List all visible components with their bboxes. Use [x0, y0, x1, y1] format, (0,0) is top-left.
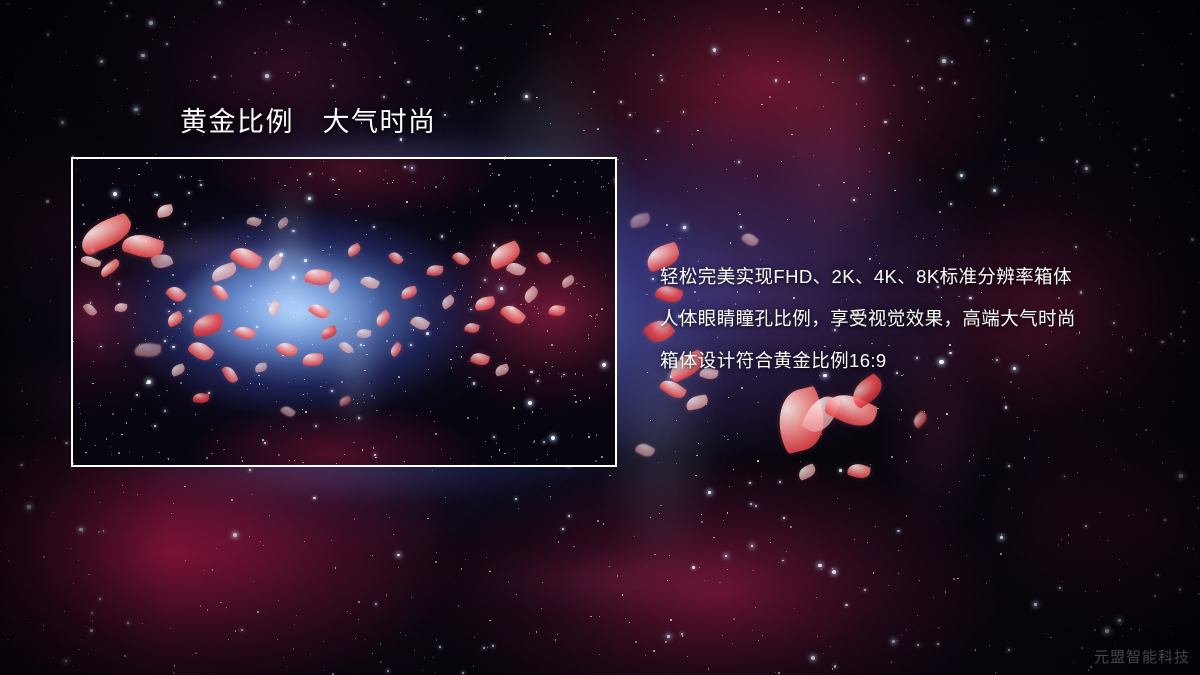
star-icon — [8, 560, 10, 562]
star-icon — [692, 134, 693, 135]
star-icon — [354, 518, 356, 520]
star-icon — [1157, 574, 1159, 576]
rose-petal-icon — [499, 301, 527, 328]
star-icon — [898, 140, 900, 142]
star-icon — [88, 653, 89, 654]
rose-petal-icon — [560, 274, 577, 289]
star-icon — [978, 116, 979, 117]
star-icon — [973, 11, 975, 13]
rose-petal-icon — [307, 300, 330, 321]
star-icon — [35, 259, 36, 260]
rose-petal-icon — [192, 313, 224, 337]
star-icon — [578, 113, 579, 114]
star-icon — [55, 437, 57, 439]
star-icon — [380, 643, 381, 644]
star-icon — [1100, 536, 1101, 537]
star-icon — [1076, 95, 1078, 97]
star-icon — [170, 27, 171, 28]
star-icon — [800, 461, 802, 463]
star-icon — [1198, 576, 1199, 577]
star-icon — [821, 569, 822, 570]
star-icon — [733, 618, 735, 620]
star-icon — [174, 16, 176, 18]
rose-petal-icon — [266, 299, 282, 316]
star-icon — [869, 171, 871, 173]
star-icon — [1183, 340, 1186, 343]
star-icon — [492, 645, 494, 647]
star-icon — [1181, 91, 1183, 93]
star-icon — [839, 469, 842, 472]
star-icon — [104, 11, 106, 13]
star-icon — [734, 161, 735, 162]
star-icon — [1075, 171, 1076, 172]
star-icon — [870, 194, 871, 195]
star-icon — [1008, 149, 1009, 150]
star-icon — [196, 80, 197, 81]
star-icon — [1191, 238, 1193, 240]
star-icon — [1090, 666, 1092, 668]
star-icon — [1130, 219, 1132, 221]
star-icon — [940, 506, 941, 507]
star-icon — [938, 427, 940, 429]
star-icon — [1094, 96, 1095, 97]
star-icon — [761, 476, 762, 477]
star-icon — [629, 114, 631, 116]
star-icon — [779, 481, 781, 483]
star-icon — [1022, 512, 1023, 513]
star-icon — [757, 175, 758, 176]
star-icon — [917, 4, 918, 5]
body-copy-line-3: 箱体设计符合黄金比例16:9 — [660, 340, 1140, 382]
star-icon — [483, 647, 485, 649]
star-icon — [899, 419, 900, 420]
star-icon — [951, 61, 953, 63]
star-icon — [967, 19, 970, 22]
star-icon — [542, 582, 544, 584]
star-icon — [666, 224, 668, 226]
star-icon — [59, 381, 60, 382]
star-icon — [407, 81, 409, 83]
star-icon — [669, 555, 671, 557]
star-icon — [910, 436, 911, 437]
star-icon — [1107, 165, 1108, 166]
star-icon — [1064, 476, 1066, 478]
star-icon — [617, 575, 618, 576]
star-icon — [231, 499, 233, 501]
star-icon — [335, 567, 337, 569]
star-icon — [977, 132, 978, 133]
star-icon — [603, 523, 605, 525]
star-icon — [212, 569, 213, 570]
star-icon — [387, 670, 389, 672]
framed-screen-preview[interactable] — [71, 157, 617, 467]
star-icon — [1141, 65, 1143, 67]
star-icon — [383, 3, 385, 5]
star-icon — [897, 530, 900, 533]
star-icon — [82, 531, 83, 532]
star-icon — [738, 212, 739, 213]
star-icon — [29, 8, 30, 9]
star-icon — [692, 566, 695, 569]
star-icon — [322, 10, 323, 11]
star-icon — [611, 30, 612, 31]
star-icon — [681, 633, 683, 635]
star-icon — [1140, 50, 1142, 52]
star-icon — [817, 636, 818, 637]
star-icon — [667, 635, 670, 638]
star-icon — [873, 572, 875, 574]
star-icon — [121, 105, 123, 107]
star-icon — [11, 86, 12, 87]
star-icon — [174, 665, 176, 667]
star-icon — [103, 153, 104, 154]
rose-petal-icon — [121, 229, 166, 262]
star-icon — [938, 627, 940, 629]
star-icon — [1159, 253, 1161, 255]
star-icon — [1170, 626, 1172, 628]
star-icon — [426, 18, 428, 20]
star-icon — [1109, 231, 1110, 232]
rose-petal-icon — [800, 390, 842, 438]
star-icon — [1145, 139, 1147, 141]
star-icon — [295, 74, 296, 75]
star-icon — [1110, 237, 1111, 238]
star-icon — [497, 86, 498, 87]
star-icon — [657, 130, 659, 132]
star-icon — [616, 179, 617, 183]
star-icon — [919, 179, 921, 181]
star-icon — [43, 625, 45, 627]
star-icon — [152, 39, 153, 40]
rose-petal-icon — [388, 249, 404, 266]
body-copy-line-1: 轻松完美实现FHD、2K、4K、8K标准分辨率箱体 — [660, 256, 1140, 298]
star-icon — [877, 245, 878, 246]
star-icon — [245, 8, 247, 10]
star-icon — [1120, 624, 1121, 625]
star-icon — [1099, 512, 1101, 514]
star-icon — [727, 512, 728, 513]
body-copy-line-2: 人体眼睛瞳孔比例，享受视觉效果，高端大气时尚 — [660, 298, 1140, 340]
star-icon — [1103, 420, 1104, 421]
star-icon — [1146, 509, 1147, 510]
star-icon — [462, 672, 464, 674]
star-icon — [549, 33, 551, 35]
star-icon — [1134, 172, 1136, 174]
star-icon — [1068, 36, 1070, 38]
star-icon — [1058, 545, 1059, 546]
star-icon — [821, 434, 822, 435]
star-icon — [393, 534, 395, 536]
star-icon — [1120, 619, 1121, 620]
star-icon — [761, 104, 762, 105]
star-icon — [64, 611, 65, 612]
star-icon — [950, 203, 952, 205]
star-icon — [979, 475, 981, 477]
star-icon — [1122, 635, 1123, 636]
star-icon — [195, 652, 197, 654]
star-icon — [893, 85, 895, 87]
star-icon — [796, 107, 798, 109]
star-icon — [757, 460, 759, 462]
star-icon — [1136, 434, 1137, 435]
star-icon — [1073, 8, 1075, 10]
star-icon — [832, 668, 833, 669]
star-icon — [782, 560, 784, 562]
star-icon — [275, 33, 276, 34]
star-icon — [1134, 148, 1136, 150]
star-icon — [1133, 514, 1135, 516]
rose-petal-icon — [192, 392, 209, 405]
star-icon — [562, 528, 564, 530]
star-icon — [696, 455, 698, 457]
star-icon — [103, 530, 105, 532]
star-icon — [937, 418, 938, 419]
star-icon — [907, 40, 909, 42]
star-icon — [21, 390, 23, 392]
star-icon — [549, 486, 550, 487]
star-icon — [1130, 628, 1132, 630]
star-icon — [873, 149, 875, 151]
star-icon — [1061, 581, 1062, 582]
star-icon — [355, 638, 356, 639]
star-icon — [830, 128, 831, 129]
star-icon — [253, 581, 254, 582]
rose-petal-icon — [685, 394, 709, 411]
star-icon — [184, 486, 186, 488]
star-icon — [124, 655, 126, 657]
star-icon — [983, 519, 984, 520]
star-icon — [718, 84, 720, 86]
star-icon — [458, 16, 459, 17]
star-icon — [1101, 616, 1102, 617]
star-icon — [343, 43, 346, 46]
star-icon — [925, 119, 926, 120]
star-icon — [92, 620, 93, 621]
star-icon — [78, 560, 79, 561]
star-icon — [853, 199, 855, 201]
star-icon — [476, 67, 478, 69]
star-icon — [632, 13, 633, 14]
star-icon — [1195, 555, 1196, 556]
star-icon — [654, 554, 656, 556]
star-icon — [1085, 167, 1088, 170]
star-icon — [660, 505, 662, 507]
star-icon — [226, 607, 227, 608]
star-icon — [891, 661, 893, 663]
star-icon — [185, 560, 186, 561]
star-icon — [1155, 302, 1156, 303]
star-icon — [597, 520, 599, 522]
star-icon — [1159, 216, 1161, 218]
star-icon — [127, 622, 129, 624]
star-icon — [1092, 101, 1093, 102]
star-icon — [1000, 536, 1003, 539]
star-icon — [298, 71, 300, 73]
star-icon — [137, 494, 139, 496]
star-icon — [1170, 333, 1172, 335]
star-icon — [667, 580, 668, 581]
star-icon — [510, 24, 511, 25]
star-icon — [840, 411, 842, 413]
star-icon — [1173, 553, 1174, 554]
rose-petal-icon — [846, 461, 871, 481]
star-icon — [1071, 213, 1072, 214]
star-icon — [1048, 457, 1049, 458]
star-icon — [66, 52, 67, 53]
star-icon — [1193, 548, 1195, 550]
star-icon — [645, 159, 646, 160]
star-icon — [1085, 525, 1087, 527]
star-icon — [495, 58, 496, 59]
star-icon — [481, 76, 482, 77]
star-icon — [755, 607, 756, 608]
star-icon — [813, 155, 814, 156]
star-icon — [1107, 540, 1108, 541]
star-icon — [719, 582, 720, 583]
star-icon — [1149, 177, 1150, 178]
star-icon — [597, 128, 599, 130]
star-icon — [194, 21, 195, 22]
star-icon — [1077, 472, 1078, 473]
star-icon — [1195, 526, 1196, 527]
star-icon — [843, 182, 845, 184]
rose-petal-icon — [400, 285, 418, 299]
star-icon — [53, 118, 55, 120]
star-icon — [898, 573, 899, 574]
star-icon — [558, 541, 559, 542]
star-icon — [515, 498, 517, 500]
star-icon — [90, 629, 93, 632]
star-icon — [1142, 33, 1144, 35]
star-icon — [1107, 235, 1108, 236]
star-icon — [775, 79, 778, 82]
star-icon — [1163, 251, 1164, 252]
star-icon — [617, 159, 619, 161]
star-icon — [738, 161, 740, 163]
star-icon — [444, 114, 446, 116]
star-icon — [1005, 402, 1006, 403]
star-icon — [935, 236, 936, 237]
star-icon — [1086, 114, 1088, 116]
rose-petal-icon — [536, 249, 552, 266]
star-icon — [570, 36, 571, 37]
star-icon — [427, 40, 429, 42]
star-icon — [901, 635, 902, 636]
star-icon — [331, 540, 333, 542]
star-icon — [461, 568, 463, 570]
star-icon — [856, 103, 858, 105]
star-icon — [260, 4, 261, 5]
star-icon — [1129, 204, 1130, 205]
star-icon — [775, 672, 776, 673]
star-icon — [473, 666, 474, 667]
petal-field-inner — [71, 157, 617, 467]
star-icon — [652, 278, 654, 280]
star-icon — [803, 23, 804, 24]
star-icon — [420, 4, 421, 5]
star-icon — [867, 542, 868, 543]
rose-petal-icon — [303, 266, 332, 289]
star-icon — [939, 78, 941, 80]
star-icon — [814, 251, 815, 252]
star-icon — [536, 97, 538, 99]
star-icon — [576, 42, 577, 43]
star-icon — [1154, 595, 1156, 597]
star-icon — [854, 539, 855, 540]
star-icon — [449, 77, 450, 78]
star-icon — [249, 536, 250, 537]
star-icon — [1164, 519, 1166, 521]
star-icon — [727, 439, 729, 441]
star-icon — [170, 628, 172, 630]
star-icon — [1183, 170, 1185, 172]
rose-petal-icon — [469, 350, 490, 368]
star-icon — [752, 570, 753, 571]
star-icon — [1069, 17, 1070, 18]
star-icon — [518, 508, 519, 509]
star-icon — [625, 618, 627, 620]
star-icon — [304, 541, 305, 542]
star-icon — [122, 485, 124, 487]
star-icon — [726, 169, 727, 170]
star-icon — [10, 650, 11, 651]
star-icon — [218, 1, 221, 4]
star-icon — [783, 4, 784, 5]
star-icon — [290, 16, 291, 17]
star-icon — [1096, 446, 1097, 447]
star-icon — [47, 33, 50, 36]
star-icon — [875, 526, 876, 527]
star-icon — [486, 557, 487, 558]
star-icon — [323, 641, 324, 642]
star-icon — [921, 87, 923, 89]
star-icon — [907, 4, 908, 5]
star-icon — [73, 583, 74, 584]
star-icon — [667, 121, 669, 123]
star-icon — [653, 650, 655, 652]
rose-petal-icon — [548, 303, 566, 317]
star-icon — [489, 620, 491, 622]
star-icon — [1085, 591, 1086, 592]
star-icon — [1142, 335, 1143, 336]
star-icon — [53, 658, 54, 659]
star-icon — [1190, 33, 1191, 34]
rose-petal-icon — [494, 363, 510, 376]
star-icon — [1171, 451, 1172, 452]
rose-petal-icon — [98, 258, 122, 278]
star-icon — [620, 101, 622, 103]
star-icon — [708, 491, 711, 494]
star-icon — [435, 561, 436, 562]
star-icon — [422, 670, 424, 672]
star-icon — [436, 639, 437, 640]
star-icon — [603, 69, 604, 70]
star-icon — [832, 82, 834, 84]
star-icon — [330, 79, 332, 81]
star-icon — [1003, 29, 1004, 30]
star-icon — [400, 632, 401, 633]
star-icon — [729, 486, 731, 488]
star-icon — [458, 605, 460, 607]
star-icon — [331, 79, 332, 80]
star-icon — [30, 622, 31, 623]
page-title: 黄金比例 大气时尚 — [180, 100, 437, 139]
star-icon — [749, 482, 751, 484]
star-icon — [465, 559, 466, 560]
star-icon — [1012, 58, 1014, 60]
star-icon — [200, 605, 202, 607]
star-icon — [288, 21, 290, 23]
